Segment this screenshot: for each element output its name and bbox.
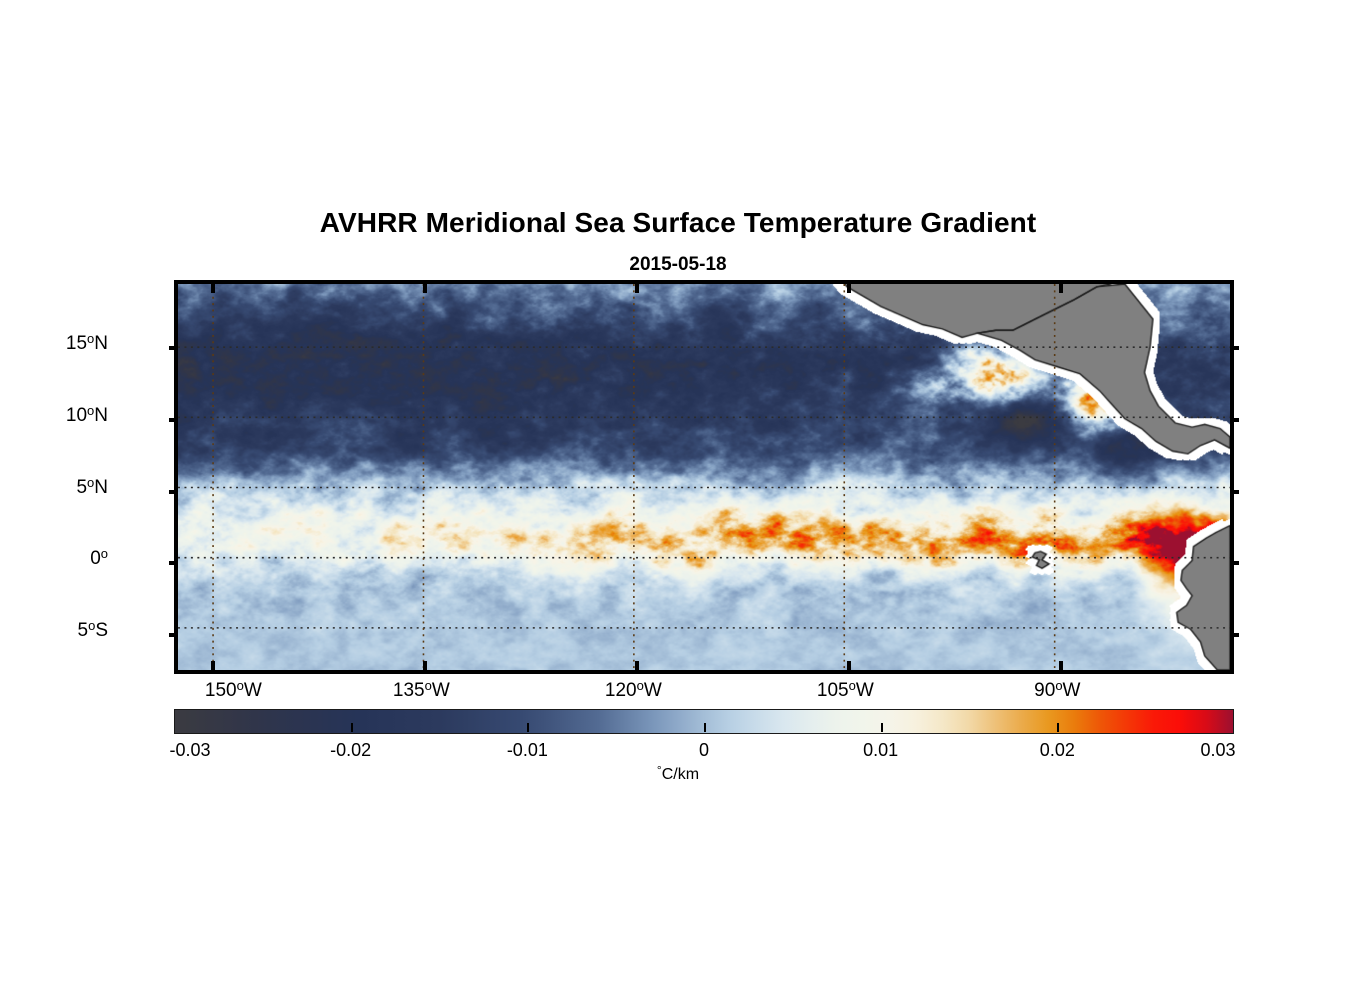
x-tick-mark-top [423,284,427,293]
y-tick-mark [169,633,178,637]
x-tick-mark [211,661,215,670]
x-tick-mark [1059,661,1063,670]
colorbar-tick-mark [351,723,353,732]
y-axis-tick-label: 5oS [0,618,108,642]
x-tick-mark-top [847,284,851,293]
y-axis-tick-label: 5oN [0,475,108,499]
x-tick-mark [847,661,851,670]
x-axis-tick-label: 90oW [1034,678,1080,702]
y-tick-mark-right [1230,346,1239,350]
y-tick-mark-right [1230,418,1239,422]
x-tick-mark-top [1059,284,1063,293]
colorbar-tick-label: -0.01 [507,740,548,761]
x-tick-mark-top [635,284,639,293]
colorbar-tick-label: -0.03 [169,740,210,761]
colorbar-units-label: °C/km [0,763,1356,784]
colorbar-tick-label: 0.01 [863,740,898,761]
colorbar-tick-mark [881,723,883,732]
colorbar-tick-label: 0.03 [1200,740,1235,761]
y-tick-mark [169,561,178,565]
page-title: AVHRR Meridional Sea Surface Temperature… [0,207,1356,239]
y-tick-mark [169,346,178,350]
map-plot-area [174,280,1234,674]
y-axis-tick-label: 15oN [0,331,108,355]
y-tick-mark-right [1230,490,1239,494]
y-axis-tick-label: 0o [0,546,108,570]
colorbar [174,709,1234,734]
y-tick-mark-right [1230,561,1239,565]
x-axis-tick-label: 105oW [817,678,874,702]
y-axis-tick-label: 10oN [0,403,108,427]
colorbar-tick-label: -0.02 [330,740,371,761]
colorbar-tick-label: 0 [699,740,709,761]
y-tick-mark [169,418,178,422]
y-tick-mark-right [1230,633,1239,637]
colorbar-tick-mark [1057,723,1059,732]
x-axis-tick-label: 120oW [605,678,662,702]
x-axis-tick-label: 150oW [205,678,262,702]
sst-gradient-heatmap [178,284,1230,670]
chart-subtitle-date: 2015-05-18 [0,254,1356,276]
figure-root: AVHRR Meridional Sea Surface Temperature… [0,0,1356,1000]
colorbar-tick-mark [527,723,529,732]
colorbar-gradient [174,709,1234,734]
x-tick-mark [423,661,427,670]
x-axis-tick-label: 135oW [393,678,450,702]
y-tick-mark [169,490,178,494]
colorbar-tick-label: 0.02 [1040,740,1075,761]
colorbar-tick-mark [704,723,706,732]
x-tick-mark [635,661,639,670]
x-tick-mark-top [211,284,215,293]
